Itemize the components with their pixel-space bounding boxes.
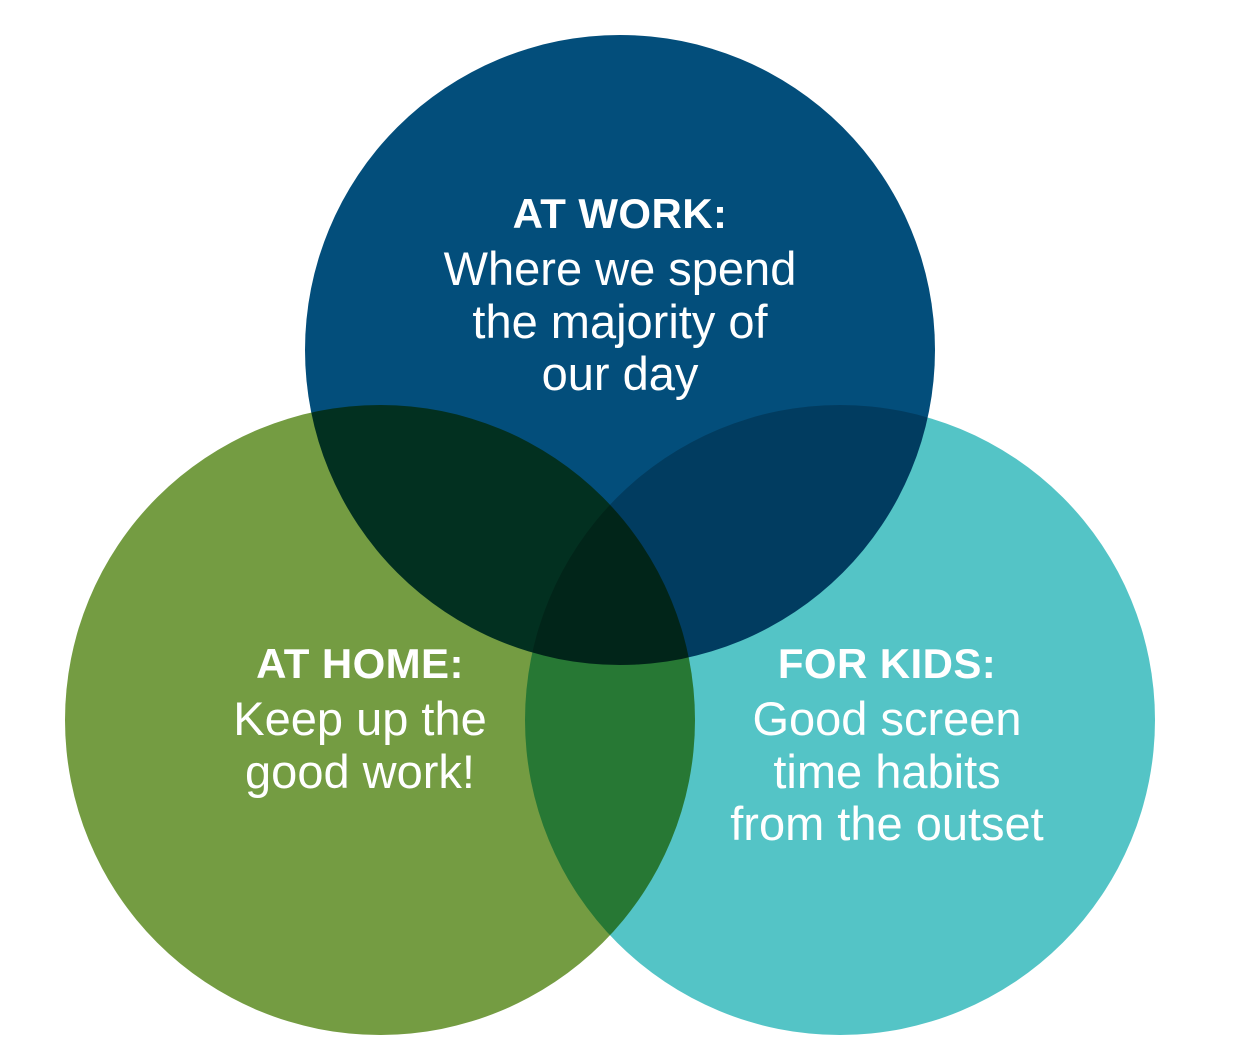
venn-circle-kids[interactable] xyxy=(525,405,1155,1035)
venn-diagram: AT WORK: Where we spend the majority of … xyxy=(0,0,1242,1063)
venn-circles-canvas xyxy=(0,0,1242,1063)
